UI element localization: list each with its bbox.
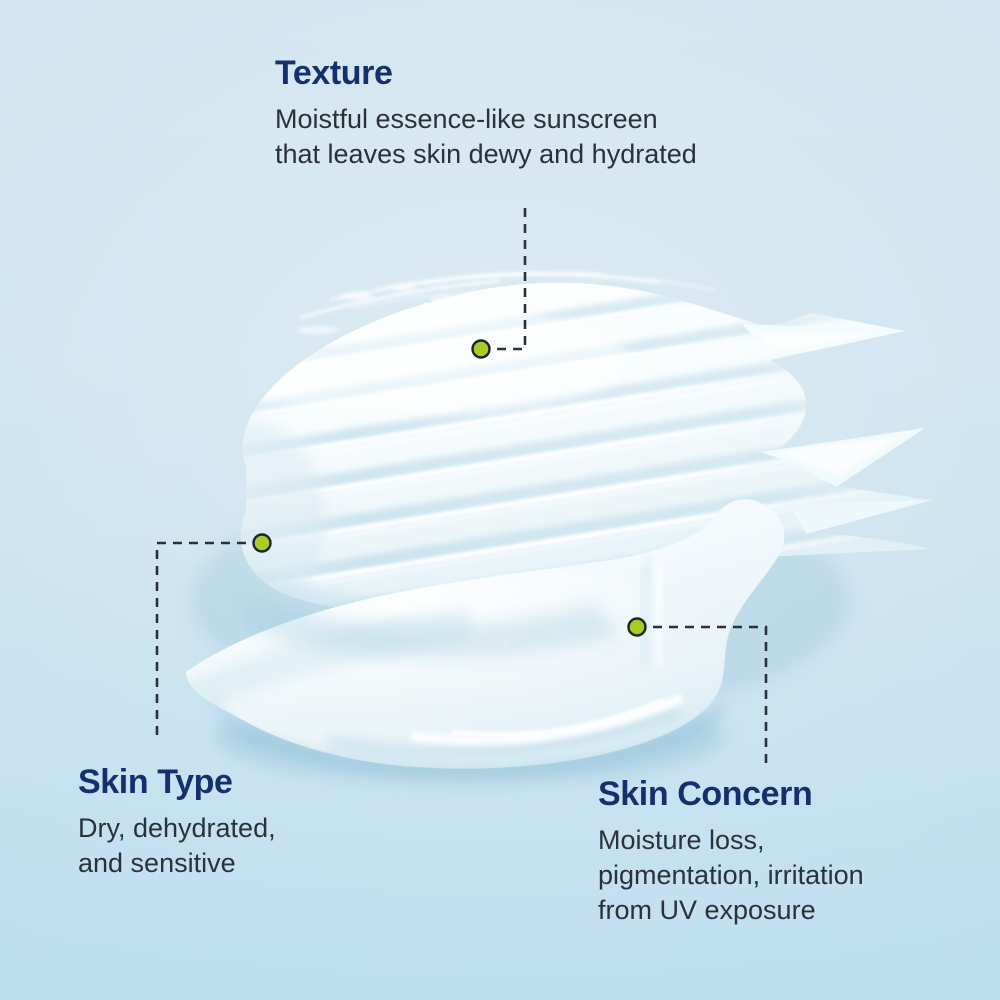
callout-text-texture-line-1: Moistful essence-like sunscreen bbox=[275, 102, 697, 137]
callout-text-skin-concern-line-1: Moisture loss, bbox=[598, 823, 864, 858]
callout-heading-skin-concern: Skin Concern bbox=[598, 777, 864, 813]
connector-texture bbox=[481, 205, 525, 349]
callout-text-skin-concern-line-2: pigmentation, irritation bbox=[598, 858, 864, 893]
callout-block-skin-concern: Skin Concern Moisture loss, pigmentation… bbox=[598, 777, 864, 928]
callout-dot-texture[interactable] bbox=[473, 341, 490, 358]
callout-text-texture-line-2: that leaves skin dewy and hydrated bbox=[275, 137, 697, 172]
callout-block-skin-type: Skin Type Dry, dehydrated, and sensitive bbox=[78, 765, 276, 881]
callout-text-skin-concern-line-3: from UV exposure bbox=[598, 893, 864, 928]
callout-dot-skin-type[interactable] bbox=[254, 535, 271, 552]
callout-dot-skin-concern[interactable] bbox=[629, 619, 646, 636]
callout-text-skin-type-line-1: Dry, dehydrated, bbox=[78, 811, 276, 846]
callout-heading-texture: Texture bbox=[275, 56, 697, 92]
infographic-canvas: Texture Moistful essence-like sunscreen … bbox=[0, 0, 1000, 1000]
callout-block-texture: Texture Moistful essence-like sunscreen … bbox=[275, 56, 697, 172]
connector-skin-concern bbox=[637, 627, 766, 766]
connector-skin-type bbox=[157, 543, 262, 742]
callout-text-skin-type-line-2: and sensitive bbox=[78, 846, 276, 881]
callout-heading-skin-type: Skin Type bbox=[78, 765, 276, 801]
